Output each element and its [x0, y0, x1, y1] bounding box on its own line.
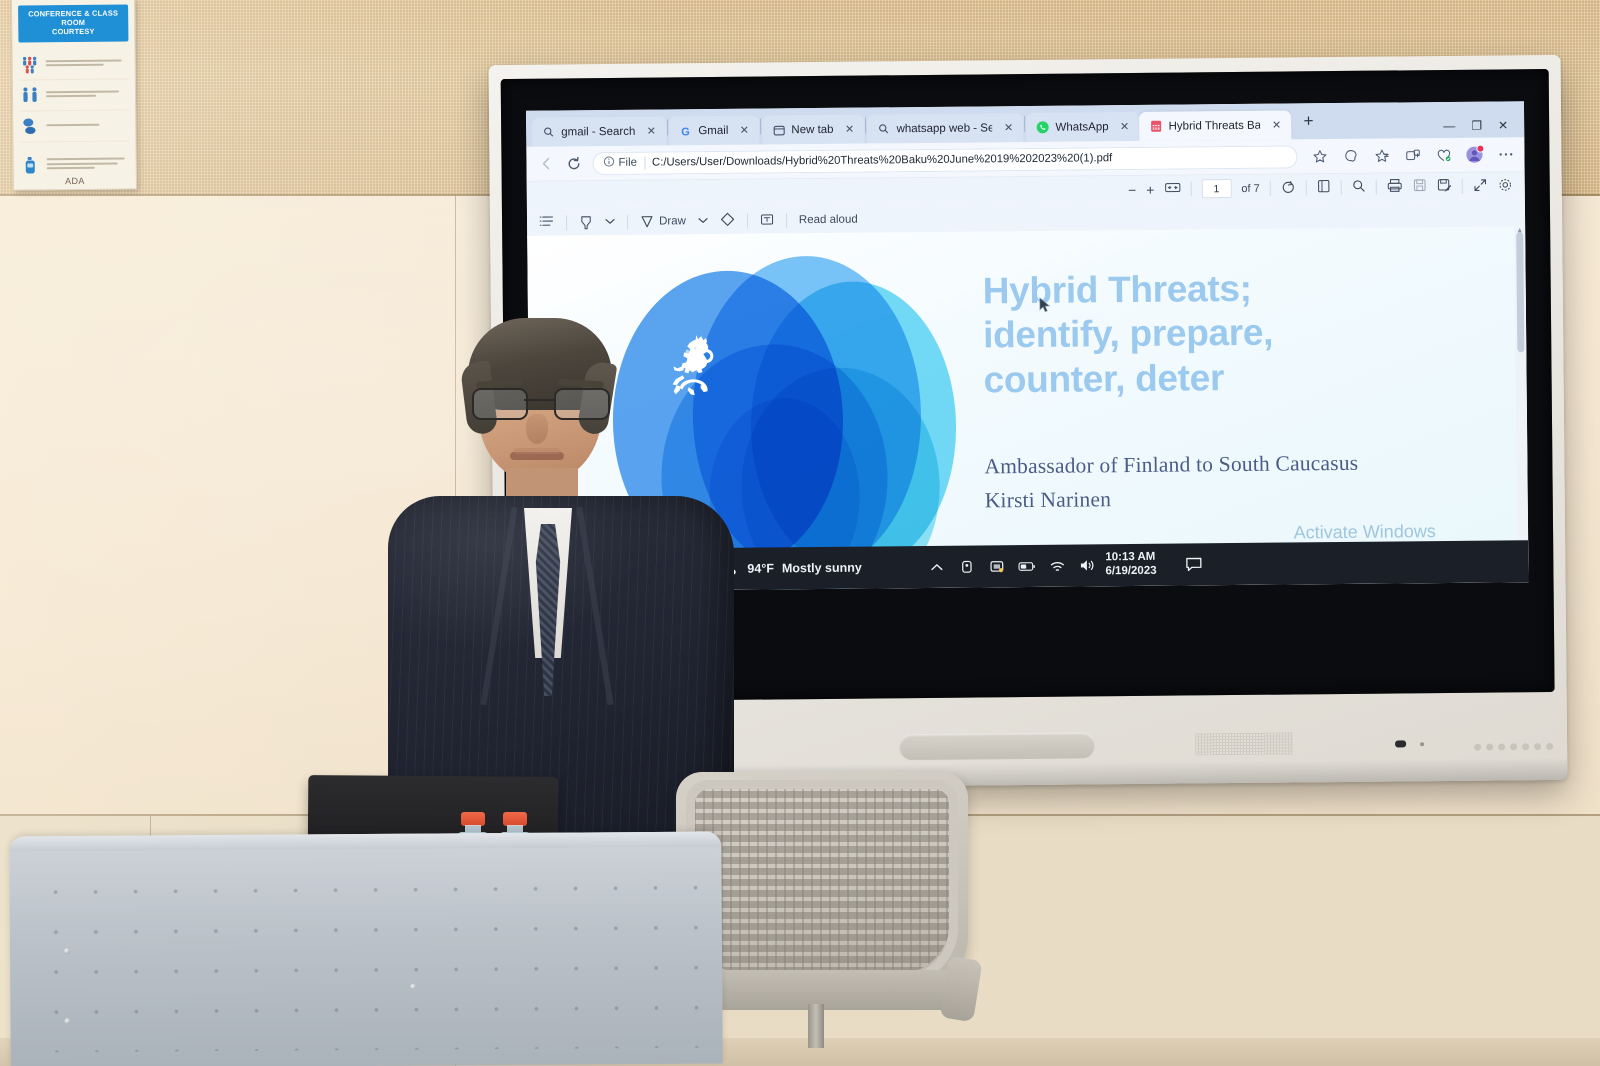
poster-rule-item	[19, 79, 129, 111]
podium-perforation-pattern	[35, 868, 700, 1053]
toolbar-divider	[1190, 181, 1191, 196]
poster-rule-list	[19, 48, 130, 188]
browser-essentials-icon[interactable]	[1434, 146, 1452, 164]
toolbar-divider	[566, 215, 567, 230]
tab-divider	[760, 119, 761, 135]
slide-title: Hybrid Threats; identify, prepare, count…	[983, 265, 1486, 403]
refresh-icon[interactable]	[564, 154, 583, 173]
distance-icon	[19, 83, 41, 107]
close-icon[interactable]: ✕	[644, 124, 658, 138]
close-icon[interactable]: ✕	[1118, 119, 1132, 133]
tab-label: New tab	[791, 123, 833, 135]
battery-icon[interactable]	[1018, 557, 1035, 574]
read-aloud-button[interactable]: Read aloud	[799, 214, 858, 227]
close-icon[interactable]: ✕	[842, 122, 856, 136]
close-window-button[interactable]: ✕	[1498, 119, 1508, 131]
poster-rule-text	[46, 90, 129, 100]
more-settings-icon[interactable]	[1496, 145, 1514, 163]
chevron-down-icon[interactable]	[605, 216, 615, 228]
url-text: C:/Users/User/Downloads/Hybrid%20Threats…	[652, 152, 1112, 168]
page-layout-icon[interactable]	[1317, 179, 1331, 196]
glasses-bridge	[524, 399, 556, 401]
save-as-annotated-icon[interactable]	[1437, 177, 1452, 195]
draw-label: Draw	[659, 215, 686, 227]
back-arrow-icon[interactable]	[536, 154, 555, 173]
slide-subtitle-name: Kirsti Narinen	[985, 484, 1487, 514]
podium-screw	[64, 1018, 70, 1024]
toolbar-divider	[786, 213, 787, 228]
chair-gas-cylinder	[808, 1004, 824, 1048]
copilot-icon[interactable]	[1341, 147, 1359, 165]
tab-divider	[865, 118, 866, 134]
chevron-down-icon[interactable]	[698, 215, 708, 227]
clock-date: 6/19/2023	[1105, 565, 1156, 579]
save-icon[interactable]	[1413, 178, 1427, 195]
pdf-icon	[1150, 120, 1163, 133]
show-hidden-icons-chevron[interactable]	[928, 558, 945, 575]
poster-title-line2: COURTESY	[20, 26, 126, 36]
glasses-lens-left	[472, 388, 528, 420]
weather-temperature: 94°F	[747, 561, 774, 575]
tab-gmail-search[interactable]: gmail - Search ✕	[532, 116, 666, 146]
taskbar-system-tray[interactable]	[928, 557, 1095, 576]
slide-title-line-2: identify, prepare,	[983, 309, 1485, 358]
mouse-cursor-icon	[1039, 297, 1052, 314]
tab-label: WhatsApp	[1055, 121, 1108, 134]
display-button[interactable]	[1522, 743, 1529, 750]
wifi-icon[interactable]	[1048, 557, 1065, 574]
bottle-cap	[461, 812, 485, 826]
url-divider	[644, 156, 645, 169]
perforated-podium-panel	[9, 832, 723, 1066]
toolbar-divider	[1376, 180, 1377, 195]
person-mouth	[510, 452, 564, 460]
window-controls[interactable]: — ❐ ✕	[1433, 119, 1518, 138]
draw-tool-button[interactable]: Draw	[640, 214, 686, 228]
close-icon[interactable]: ✕	[737, 123, 751, 137]
tab-gmail[interactable]: G Gmail ✕	[669, 116, 759, 146]
fit-page-icon[interactable]	[1164, 182, 1180, 197]
toc-icon[interactable]	[539, 215, 554, 231]
display-button[interactable]	[1510, 743, 1517, 750]
taskbar-weather-widget[interactable]: 94°F Mostly sunny	[720, 558, 862, 578]
tab-hybrid-threats-pdf[interactable]: Hybrid Threats Baku J ✕	[1139, 110, 1291, 140]
slide-title-line-3: counter, deter	[983, 353, 1485, 402]
print-icon[interactable]	[1387, 178, 1403, 195]
podium-screw	[410, 984, 416, 990]
restore-button[interactable]: ❐	[1471, 120, 1482, 132]
poster-header: CONFERENCE & CLASS ROOM COURTESY	[18, 4, 128, 42]
new-tab-button[interactable]: +	[1295, 108, 1321, 134]
eraser-icon[interactable]	[720, 212, 735, 230]
toolbar-divider	[1462, 179, 1463, 194]
tab-whatsapp[interactable]: WhatsApp ✕	[1026, 112, 1139, 142]
wall-poster: CONFERENCE & CLASS ROOM COURTESY	[11, 0, 137, 191]
slide-text-block: Hybrid Threats; identify, prepare, count…	[983, 265, 1487, 514]
browser-toolbar-icons[interactable]	[1306, 145, 1514, 165]
pdf-scrollbar[interactable]: ▲ ▼	[1514, 226, 1528, 582]
poster-footer-mark: ADA	[14, 175, 136, 186]
display-button[interactable]	[1498, 743, 1505, 750]
toolbar-divider	[747, 213, 748, 228]
clock-time: 10:13 AM	[1105, 551, 1156, 565]
gmail-icon: G	[679, 124, 692, 137]
weather-condition: Mostly sunny	[782, 561, 862, 576]
display-mic-mesh	[1195, 732, 1293, 755]
display-control-buttons[interactable]	[1474, 743, 1553, 751]
tab-label: Hybrid Threats Baku J	[1169, 119, 1261, 132]
crowd-icon	[19, 52, 41, 76]
mask-icon	[19, 114, 41, 138]
volume-icon[interactable]	[1078, 557, 1095, 574]
slide-title-line-1: Hybrid Threats;	[983, 265, 1485, 314]
close-icon[interactable]: ✕	[1001, 121, 1015, 135]
scrollbar-thumb[interactable]	[1516, 232, 1524, 352]
tab-label: gmail - Search	[561, 125, 635, 138]
safely-remove-icon[interactable]	[988, 558, 1005, 575]
poster-title-line1: CONFERENCE & CLASS ROOM	[20, 9, 126, 27]
poster-rule-item	[19, 110, 129, 142]
tab-label: Gmail	[698, 124, 728, 136]
search-icon[interactable]	[1352, 179, 1366, 196]
info-circle-icon	[603, 156, 614, 170]
tab-new-tab[interactable]: New tab ✕	[762, 115, 864, 145]
display-button[interactable]	[1486, 744, 1493, 751]
toolbar-divider	[1270, 181, 1271, 196]
taskbar-clock[interactable]: 10:13 AM 6/19/2023	[1105, 551, 1156, 579]
toolbar-divider	[627, 214, 628, 229]
chair-frame-rim	[686, 780, 958, 984]
profile-avatar[interactable]	[1466, 147, 1482, 163]
conference-room-photo: CONFERENCE & CLASS ROOM COURTESY	[0, 0, 1600, 1066]
url-input[interactable]: File C:/Users/User/Downloads/Hybrid%20Th…	[592, 145, 1297, 175]
file-scheme-indicator: File	[603, 156, 637, 170]
tab-divider	[1024, 116, 1025, 132]
poster-rule-text	[46, 59, 129, 69]
display-status-led	[1420, 742, 1424, 746]
split-screen-icon[interactable]	[1403, 146, 1421, 164]
zoom-out-button[interactable]: −	[1128, 181, 1136, 197]
fullscreen-icon[interactable]	[1473, 177, 1488, 195]
whatsapp-icon	[1036, 121, 1049, 134]
tab-label: whatsapp web - Searc	[896, 122, 992, 135]
poster-rule-text	[47, 158, 130, 172]
tab-whatsapp-web-search[interactable]: whatsapp web - Searc ✕	[867, 113, 1023, 143]
page-total-label: of 7	[1241, 182, 1259, 194]
highlight-tool-button[interactable]	[579, 215, 593, 230]
poster-rule-item	[19, 48, 129, 80]
toolbar-divider	[1306, 180, 1307, 195]
settings-gear-icon[interactable]	[1498, 177, 1513, 195]
minimize-button[interactable]: —	[1443, 120, 1455, 132]
avatar[interactable]	[1465, 146, 1483, 164]
poster-rule-text	[46, 123, 129, 128]
scheme-label: File	[618, 157, 637, 169]
close-icon[interactable]: ✕	[1270, 118, 1284, 132]
search-icon	[877, 122, 890, 135]
favorite-star-icon[interactable]	[1310, 147, 1328, 165]
notification-center-icon[interactable]	[1185, 556, 1202, 573]
search-icon	[542, 126, 555, 139]
slide-subtitle-role: Ambassador of Finland to South Caucasus	[984, 450, 1486, 480]
rotate-icon[interactable]	[1281, 179, 1296, 197]
toolbar-divider	[1341, 180, 1342, 195]
display-button[interactable]	[1546, 743, 1553, 750]
bottle-cap	[503, 812, 527, 826]
display-ir-sensor	[1395, 740, 1406, 747]
page-number-input[interactable]: 1	[1201, 179, 1231, 198]
zoom-in-button[interactable]: +	[1146, 181, 1154, 197]
display-button[interactable]	[1534, 743, 1541, 750]
collections-icon[interactable]	[1372, 147, 1390, 165]
onedrive-icon[interactable]	[958, 558, 975, 575]
display-speaker-bar	[899, 732, 1095, 760]
display-button[interactable]	[1474, 744, 1481, 751]
newtab-icon	[772, 123, 785, 136]
textbox-icon[interactable]	[760, 212, 774, 229]
glasses-lens-right	[554, 388, 610, 420]
svg-text:G: G	[681, 126, 690, 137]
podium-screw	[64, 948, 70, 954]
sanitizer-icon	[20, 153, 42, 177]
tab-divider	[667, 119, 668, 135]
person-nose	[526, 414, 548, 444]
